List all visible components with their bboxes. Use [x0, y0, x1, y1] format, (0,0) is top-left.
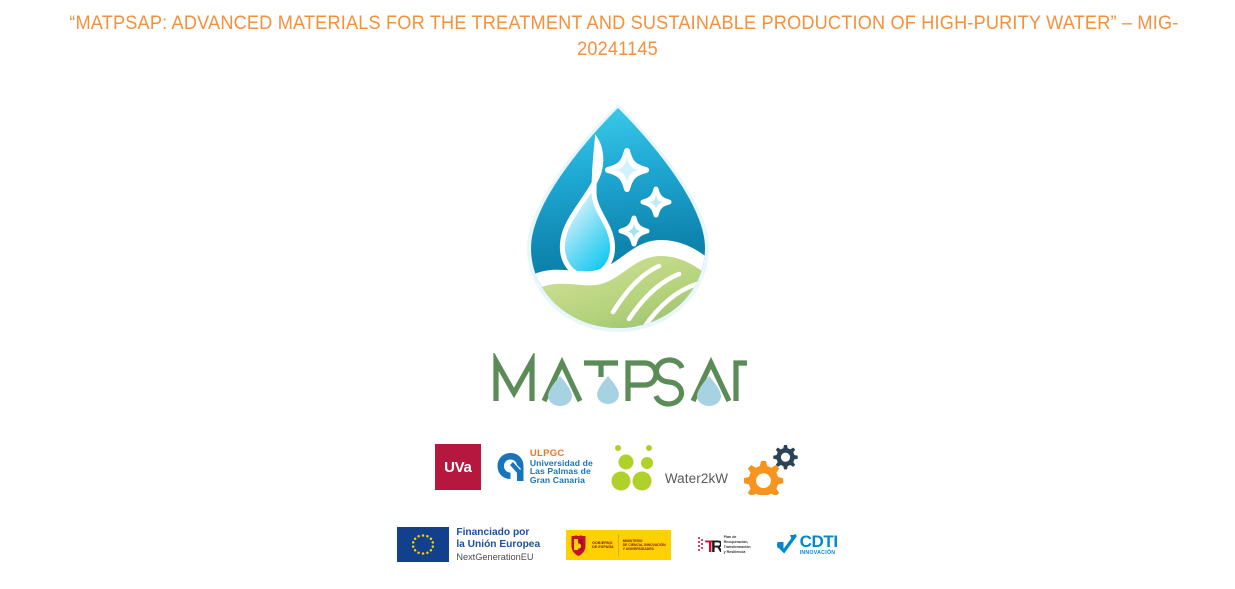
cdti-check-icon: [777, 534, 797, 556]
water2kw-label: Water2kW: [665, 471, 728, 491]
matpsap-droplet-logo: [493, 100, 743, 352]
gobierno-text-block: GOBIERNO DE ESPAÑA: [592, 541, 614, 549]
matpsap-wordmark: [488, 353, 748, 407]
gobierno-line-2: DE ESPAÑA: [592, 545, 614, 549]
ministerio-text-block: MINISTERIO DE CIENCIA, INNOVACIÓN Y UNIV…: [623, 539, 666, 552]
logo-plan-de-recuperacion: T R Plan de Recuperación, Transformación…: [697, 533, 751, 557]
ulpgc-mark-icon: [495, 451, 525, 483]
wordmark-letter-T: [584, 363, 618, 377]
eu-line-1: Financiado por: [456, 527, 540, 538]
tr-mark-icon: T R: [697, 533, 721, 557]
eu-text-block: Financiado por la Unión Europea NextGene…: [456, 527, 540, 562]
title-line-2: 20241145: [69, 36, 1165, 62]
ministerio-line-3: Y UNIVERSIDADES: [623, 547, 666, 551]
title-line-1: “MATPSAP: ADVANCED MATERIALS FOR THE TRE…: [69, 10, 1165, 36]
logo-european-union: Financiado por la Unión Europea NextGene…: [397, 527, 540, 562]
cdti-text-block: CDTI INNOVACIÓN: [800, 533, 838, 556]
cdti-subtitle: INNOVACIÓN: [800, 551, 838, 556]
page-title: “MATPSAP: ADVANCED MATERIALS FOR THE TRE…: [0, 10, 1235, 62]
eu-nextgeneration-label: NextGenerationEU: [456, 552, 540, 562]
wordmark-letter-P2: [736, 363, 747, 401]
gear-small-icon: [773, 445, 797, 469]
logo-water2kw: Water2kW: [607, 443, 728, 491]
poster-page: “MATPSAP: ADVANCED MATERIALS FOR THE TRE…: [0, 0, 1235, 589]
logo-uva: UVa: [435, 444, 481, 490]
partner-logos-row: UVa ULPGC Universidad de Las Palmas de G…: [0, 434, 1235, 500]
gobierno-divider: [618, 534, 619, 556]
gears-icon: [744, 439, 800, 495]
eu-flag-icon: [397, 527, 449, 562]
uva-acronym: UVa: [444, 459, 471, 476]
funding-logos-row: Financiado por la Unión Europea NextGene…: [0, 522, 1235, 568]
tr-line-4: y Resiliencia: [724, 550, 751, 555]
ulpgc-line-3: Gran Canaria: [530, 476, 593, 485]
wordmark-letter-S: [656, 360, 682, 404]
spain-coat-of-arms-icon: [569, 533, 588, 557]
water2kw-dots-icon: [607, 443, 663, 491]
ulpgc-text-block: ULPGC Universidad de Las Palmas de Gran …: [530, 449, 593, 485]
wordmark-letter-M: [496, 361, 532, 401]
wordmark-letter-P: [628, 363, 656, 401]
logo-gobierno-de-espana: GOBIERNO DE ESPAÑA MINISTERIO DE CIENCIA…: [566, 530, 671, 560]
logo-ulpgc: ULPGC Universidad de Las Palmas de Gran …: [495, 449, 593, 485]
cdti-acronym: CDTI: [800, 533, 838, 550]
tr-text-block: Plan de Recuperación, Transformación y R…: [724, 535, 751, 554]
eu-line-2: la Unión Europea: [456, 539, 540, 550]
svg-text:R: R: [711, 537, 721, 556]
logo-cdti: CDTI INNOVACIÓN: [777, 533, 838, 556]
